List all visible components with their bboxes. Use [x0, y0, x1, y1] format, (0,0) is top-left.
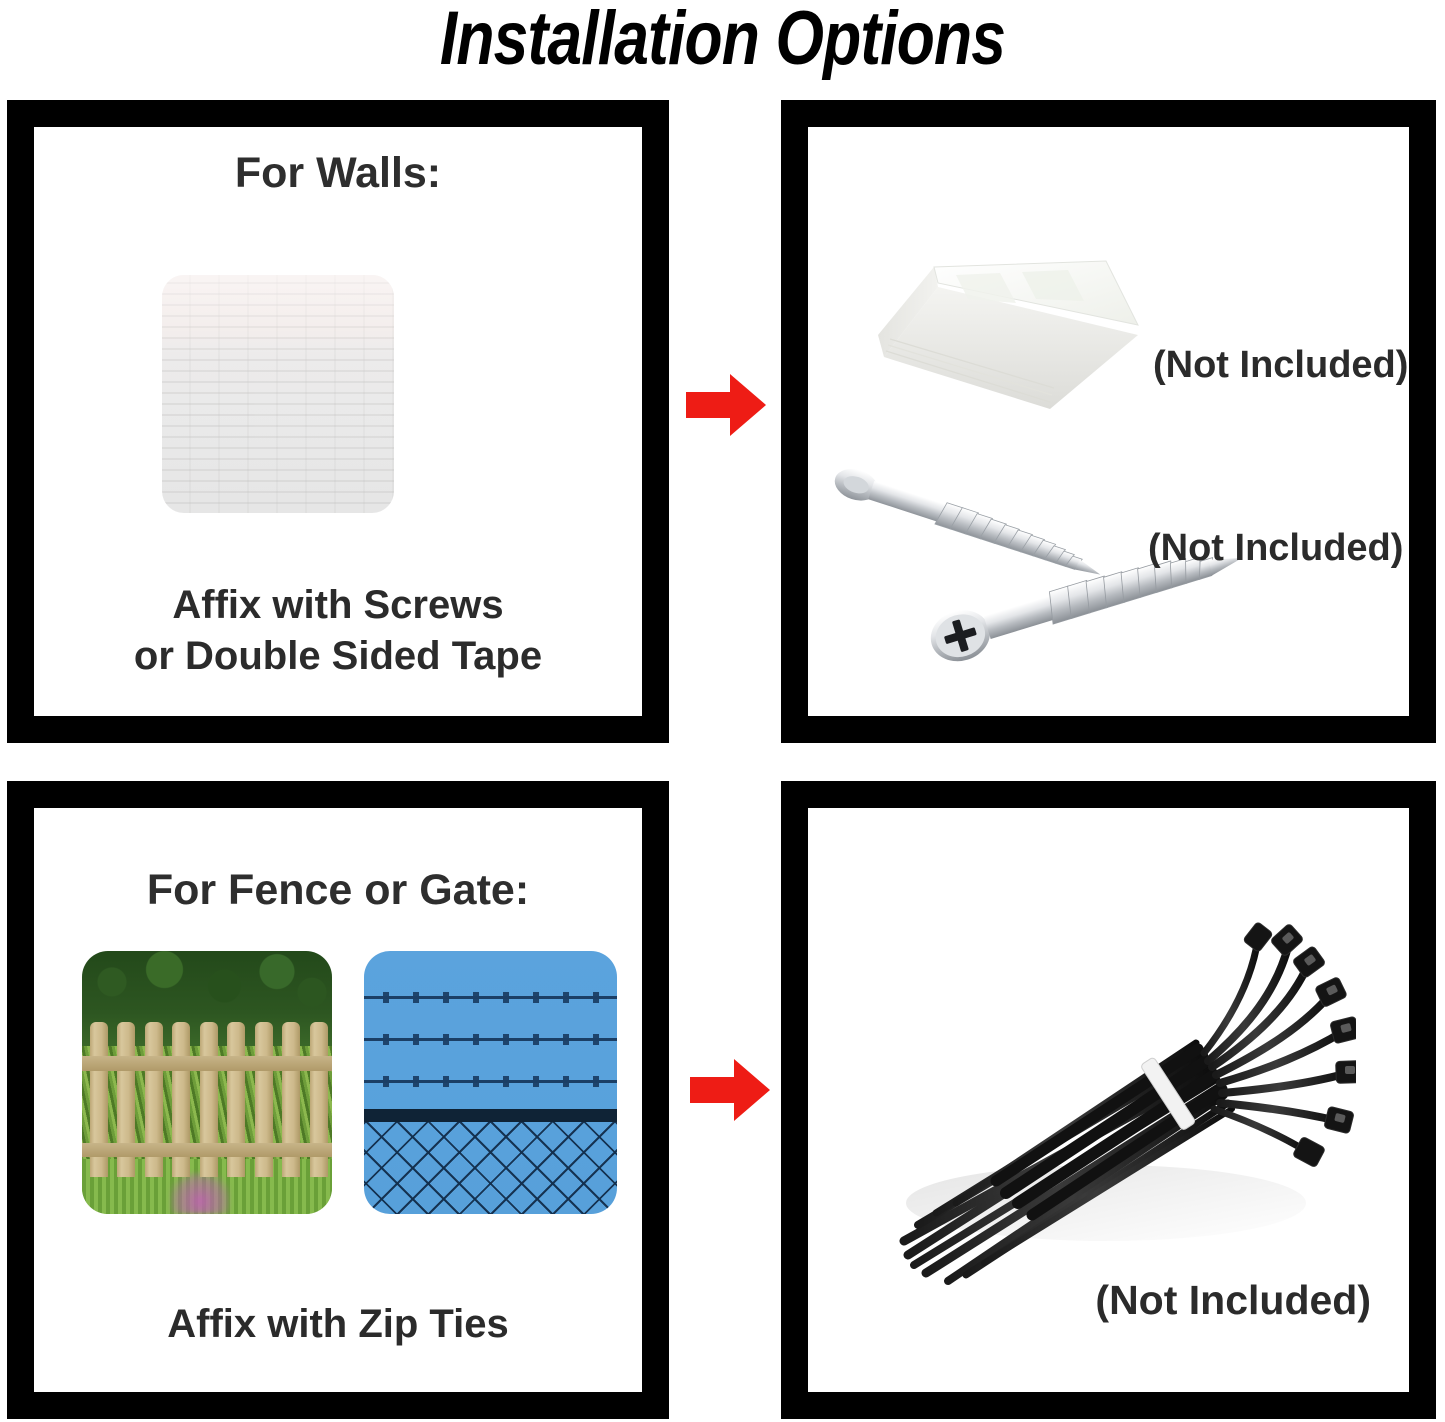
- panel-wall-hardware-content: (Not Included): [808, 127, 1409, 716]
- page-title: Installation Options: [130, 0, 1315, 81]
- panel-wall-hardware: (Not Included): [781, 100, 1436, 743]
- fence-rail-bottom: [82, 1143, 332, 1157]
- ziptie-not-included-label: (Not Included): [1095, 1277, 1371, 1324]
- fence-top-rail: [364, 1109, 617, 1122]
- for-fence-or-gate-heading: For Fence or Gate:: [34, 866, 642, 915]
- panel-for-fence-or-gate: For Fence or Gate:: [7, 781, 669, 1419]
- panel-zip-ties: (Not Included): [781, 781, 1436, 1419]
- red-right-arrow-icon-top: [686, 374, 766, 436]
- wooden-picket-fence-photo: [82, 951, 332, 1214]
- double-sided-tape-stack-icon: [870, 239, 1145, 417]
- white-brick-wall-swatch-icon: [162, 275, 394, 513]
- for-fence-caption-line1: Affix with Zip Ties: [34, 1299, 642, 1350]
- panel-for-walls: For Walls: Affix with Screws or Double S…: [7, 100, 669, 743]
- barbed-wire-strand: [364, 1038, 617, 1041]
- panel-for-fence-or-gate-content: For Fence or Gate:: [34, 808, 642, 1392]
- panel-for-walls-content: For Walls: Affix with Screws or Double S…: [34, 127, 642, 716]
- for-fence-caption: Affix with Zip Ties: [34, 1299, 642, 1350]
- for-walls-caption-line2: or Double Sided Tape: [34, 631, 642, 682]
- screw-not-included-label: (Not Included): [1148, 527, 1403, 570]
- panel-zip-ties-content: (Not Included): [808, 808, 1409, 1392]
- fence-rail-top: [82, 1056, 332, 1070]
- for-walls-heading: For Walls:: [34, 149, 642, 198]
- tape-not-included-label: (Not Included): [1153, 344, 1408, 387]
- black-zip-tie-bundle-icon: [856, 903, 1356, 1293]
- for-walls-caption: Affix with Screws or Double Sided Tape: [34, 580, 642, 682]
- chain-link-mesh: [364, 1122, 617, 1214]
- purple-patch: [170, 1172, 230, 1214]
- chain-link-barbed-wire-fence-photo: [364, 951, 617, 1214]
- for-walls-caption-line1: Affix with Screws: [34, 580, 642, 631]
- barbed-wire-strand: [364, 996, 617, 999]
- red-right-arrow-icon-bottom: [690, 1059, 770, 1121]
- barbed-wire-strand: [364, 1080, 617, 1083]
